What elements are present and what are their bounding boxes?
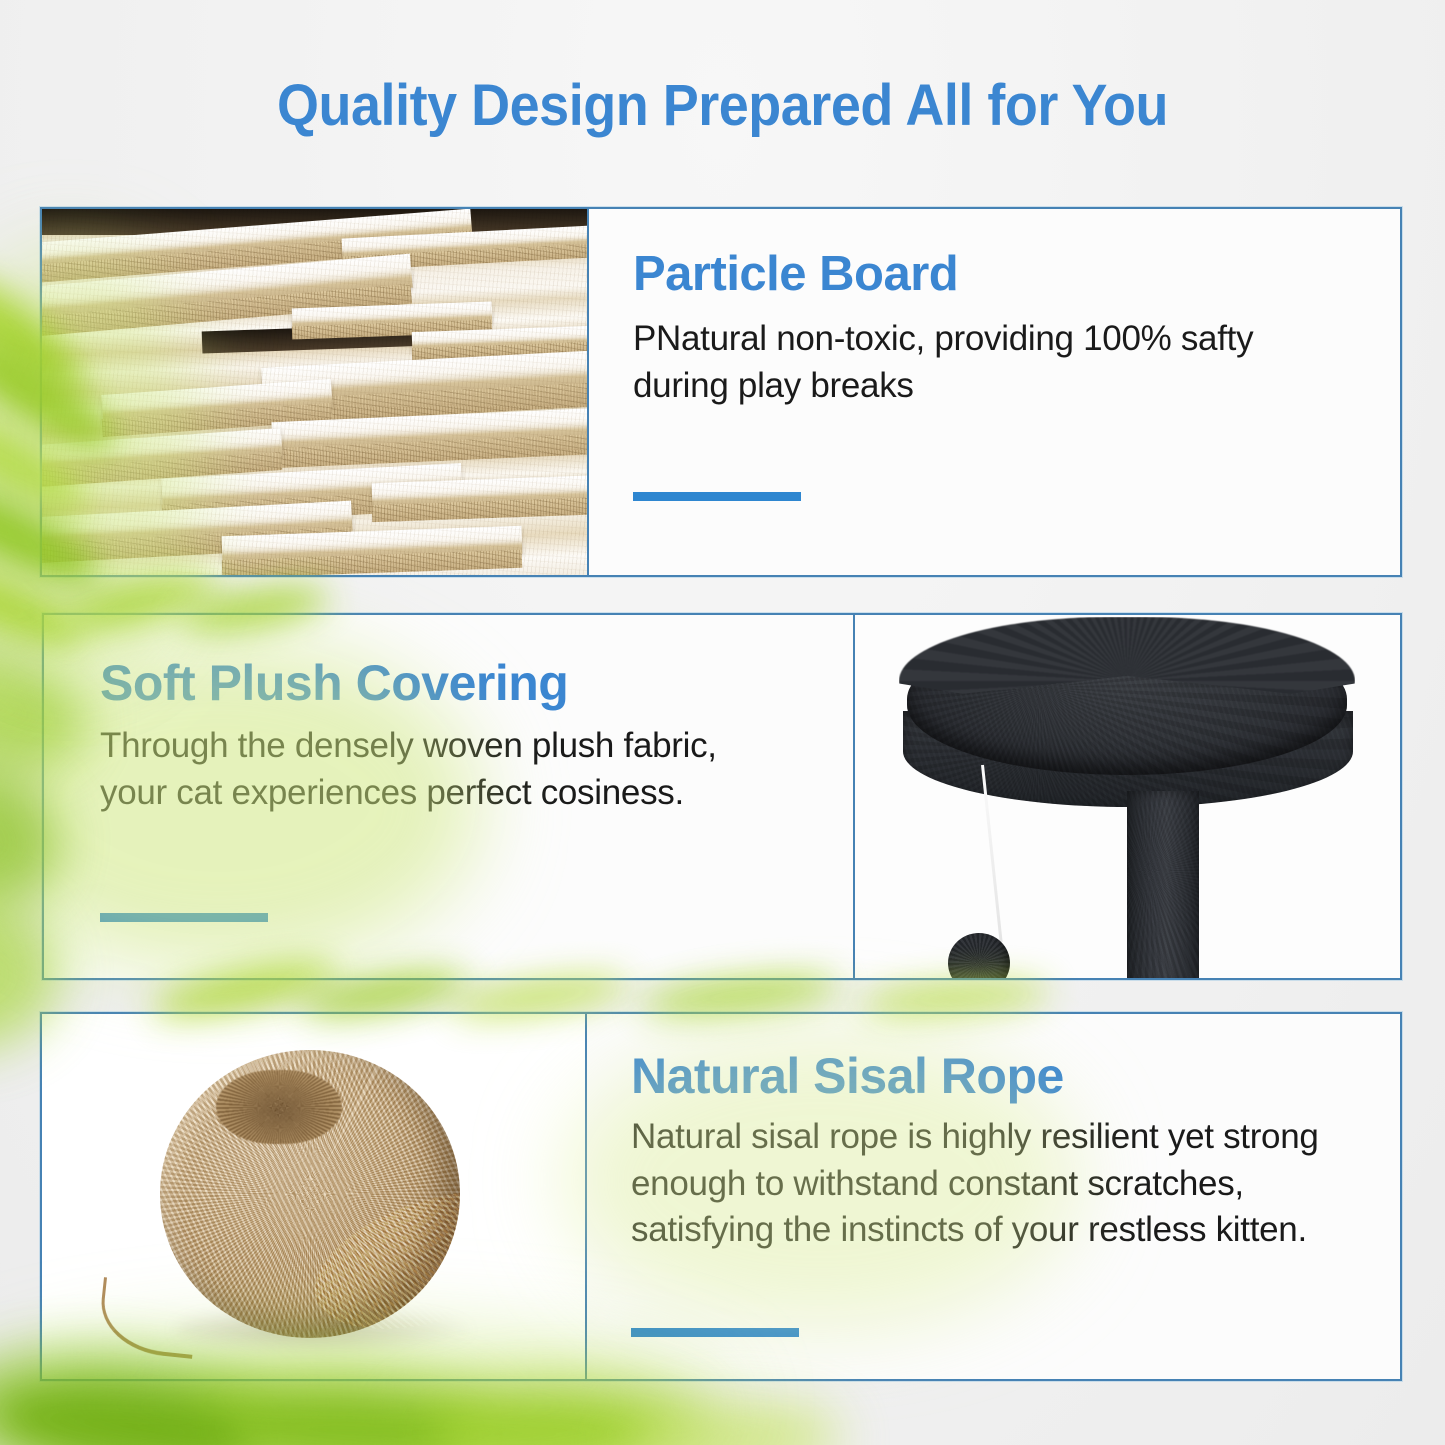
infographic-root: Quality Design Prepared All for You: [0, 0, 1445, 1445]
card-title: Particle Board: [633, 249, 1356, 300]
card-title: Soft Plush Covering: [100, 657, 809, 709]
feature-card-natural-sisal-rope: Natural Sisal Rope Natural sisal rope is…: [40, 1012, 1402, 1381]
card-body: Through the densely woven plush fabric, …: [100, 723, 790, 816]
feature-card-soft-plush-covering: Soft Plush Covering Through the densely …: [42, 613, 1402, 980]
accent-rule: [100, 913, 268, 922]
card-title: Natural Sisal Rope: [631, 1050, 1356, 1102]
sisal-twine-ball-illustration: [42, 1014, 585, 1379]
accent-rule: [633, 492, 801, 501]
particle-board-stack-illustration: [42, 209, 587, 575]
particle-board-image: [42, 209, 587, 575]
sisal-rope-text: Natural Sisal Rope Natural sisal rope is…: [585, 1014, 1400, 1379]
plush-cat-perch-illustration: [855, 615, 1400, 978]
particle-board-text: Particle Board PNatural non-toxic, provi…: [587, 209, 1400, 575]
cat-perch-image: [855, 615, 1400, 978]
loose-twine-end: [96, 1277, 199, 1359]
card-body: Natural sisal rope is highly resilient y…: [631, 1114, 1356, 1254]
sisal-rope-image: [42, 1014, 585, 1379]
feature-card-particle-board: Particle Board PNatural non-toxic, provi…: [40, 207, 1402, 577]
page-title: Quality Design Prepared All for You: [51, 72, 1395, 139]
card-body: PNatural non-toxic, providing 100% safty…: [633, 316, 1356, 409]
soft-plush-text: Soft Plush Covering Through the densely …: [44, 615, 855, 978]
accent-rule: [631, 1328, 799, 1337]
